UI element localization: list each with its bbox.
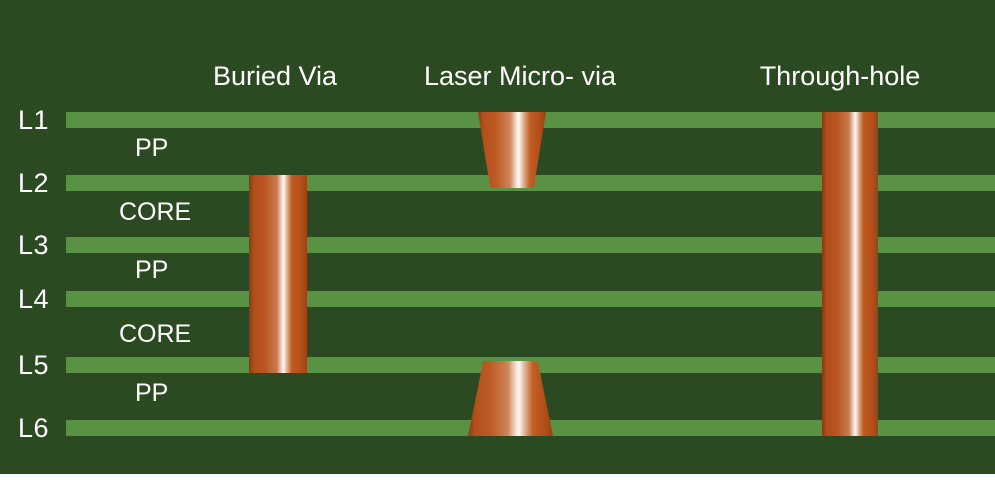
dielectric-label-pp-l3-l4: PP xyxy=(135,258,168,283)
through-hole-via-barrel xyxy=(822,112,878,436)
layer-label-l3: L3 xyxy=(18,232,49,259)
layer-label-l2: L2 xyxy=(18,170,49,197)
buried-via-barrel xyxy=(249,175,307,373)
layer-label-l6: L6 xyxy=(18,415,49,442)
dielectric-label-core-l4-l5: CORE xyxy=(119,322,191,347)
dielectric-label-core-l2-l3: CORE xyxy=(119,200,191,225)
dielectric-label-pp-l5-l6: PP xyxy=(135,381,168,406)
via-caption-buried-via: Buried Via xyxy=(155,63,395,90)
pcb-stackup-diagram: Buried Via Laser Micro- via Through-hole… xyxy=(0,0,995,480)
via-caption-through-hole: Through-hole xyxy=(725,63,955,90)
dielectric-label-pp-l1-l2: PP xyxy=(135,136,168,161)
layer-label-l4: L4 xyxy=(18,286,49,313)
layer-label-l5: L5 xyxy=(18,352,49,379)
layer-label-l1: L1 xyxy=(18,107,49,134)
via-caption-laser-micro-via: Laser Micro- via xyxy=(395,63,645,90)
